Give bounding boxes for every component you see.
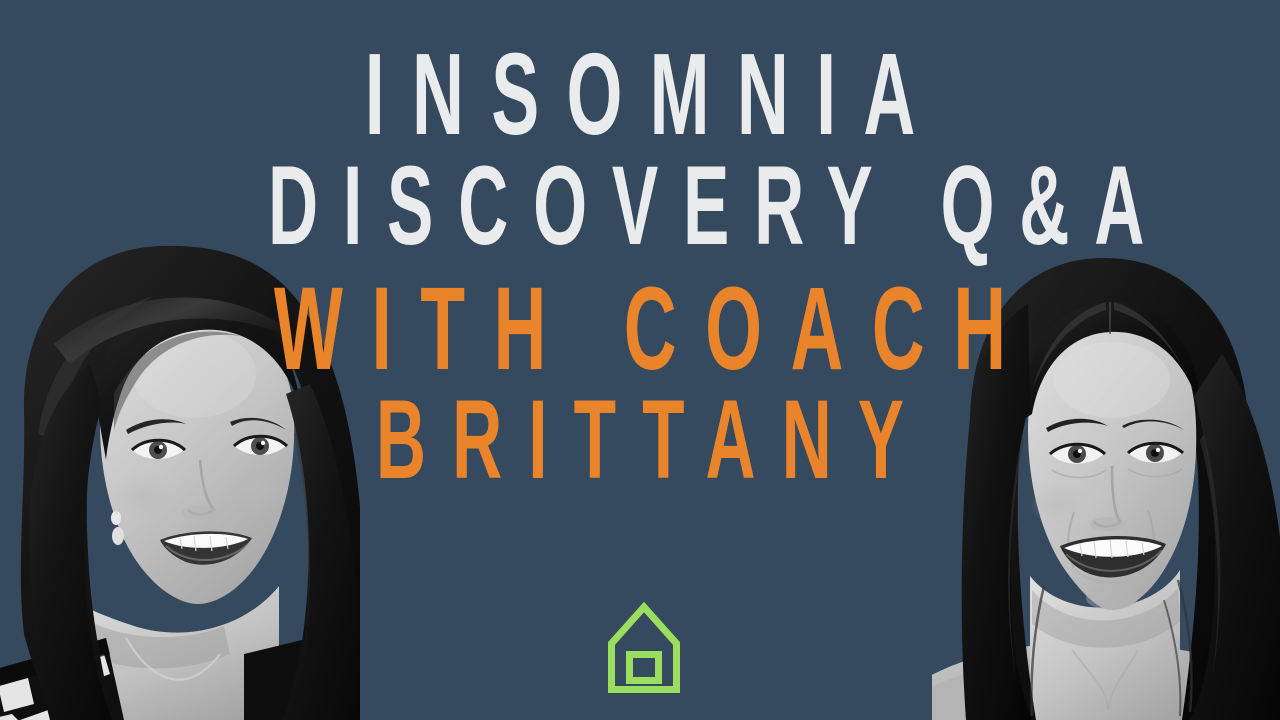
- title-line-4: BRITTANY: [243, 384, 1037, 496]
- video-thumbnail: INSOMNIA DISCOVERY Q&A WITH COACH BRITTA…: [0, 0, 1280, 720]
- title-line-1: INSOMNIA: [243, 36, 1037, 152]
- portrait-left: [0, 234, 360, 720]
- portrait-right: [932, 250, 1280, 720]
- house-icon: [612, 607, 677, 690]
- title-line-3: WITH COACH: [243, 270, 1037, 388]
- house-logo: [604, 598, 684, 698]
- title-line-2: DISCOVERY Q&A: [243, 150, 1037, 262]
